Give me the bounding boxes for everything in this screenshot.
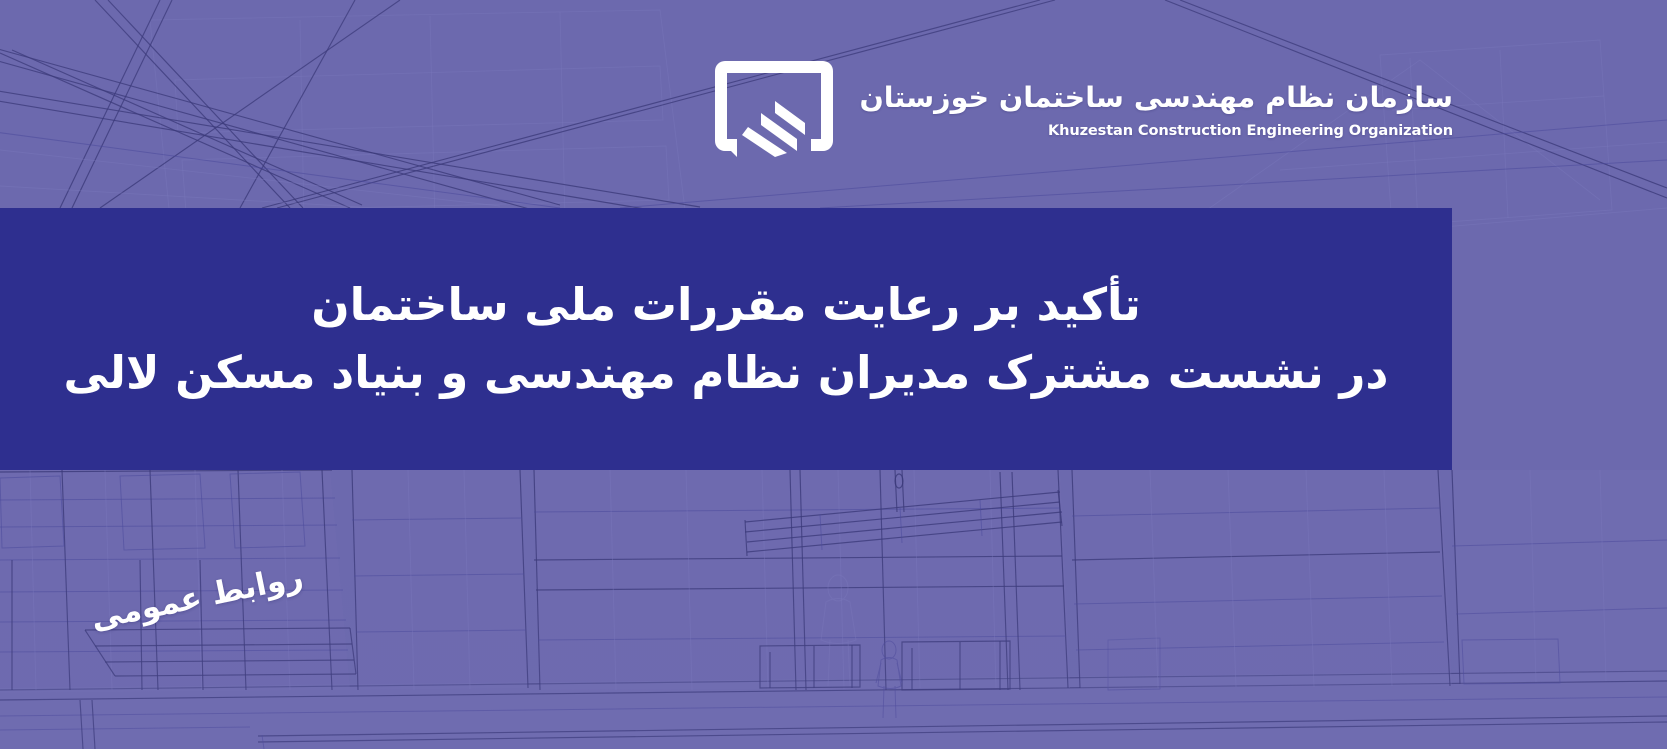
headline-line-2: در نشست مشترک مدیران نظام مهندسی و بنیاد…: [64, 341, 1389, 405]
headline-band: تأکید بر رعایت مقررات ملی ساختمان در نشس…: [0, 208, 1452, 470]
headline-line-1: تأکید بر رعایت مقررات ملی ساختمان: [311, 273, 1141, 337]
organization-name-english: Khuzestan Construction Engineering Organ…: [859, 121, 1453, 141]
banner-header: سازمان نظام مهندسی ساختمان خوزستان Khuze…: [0, 0, 1667, 208]
organization-name-farsi: سازمان نظام مهندسی ساختمان خوزستان: [859, 80, 1453, 116]
organization-brand-lockup: سازمان نظام مهندسی ساختمان خوزستان Khuze…: [715, 61, 1453, 161]
announcement-banner: .ld { stroke:#3a3878; stroke-width:1.15;…: [0, 0, 1667, 749]
organization-name-block: سازمان نظام مهندسی ساختمان خوزستان Khuze…: [859, 80, 1453, 141]
building-frame-logo-icon: [715, 61, 833, 161]
